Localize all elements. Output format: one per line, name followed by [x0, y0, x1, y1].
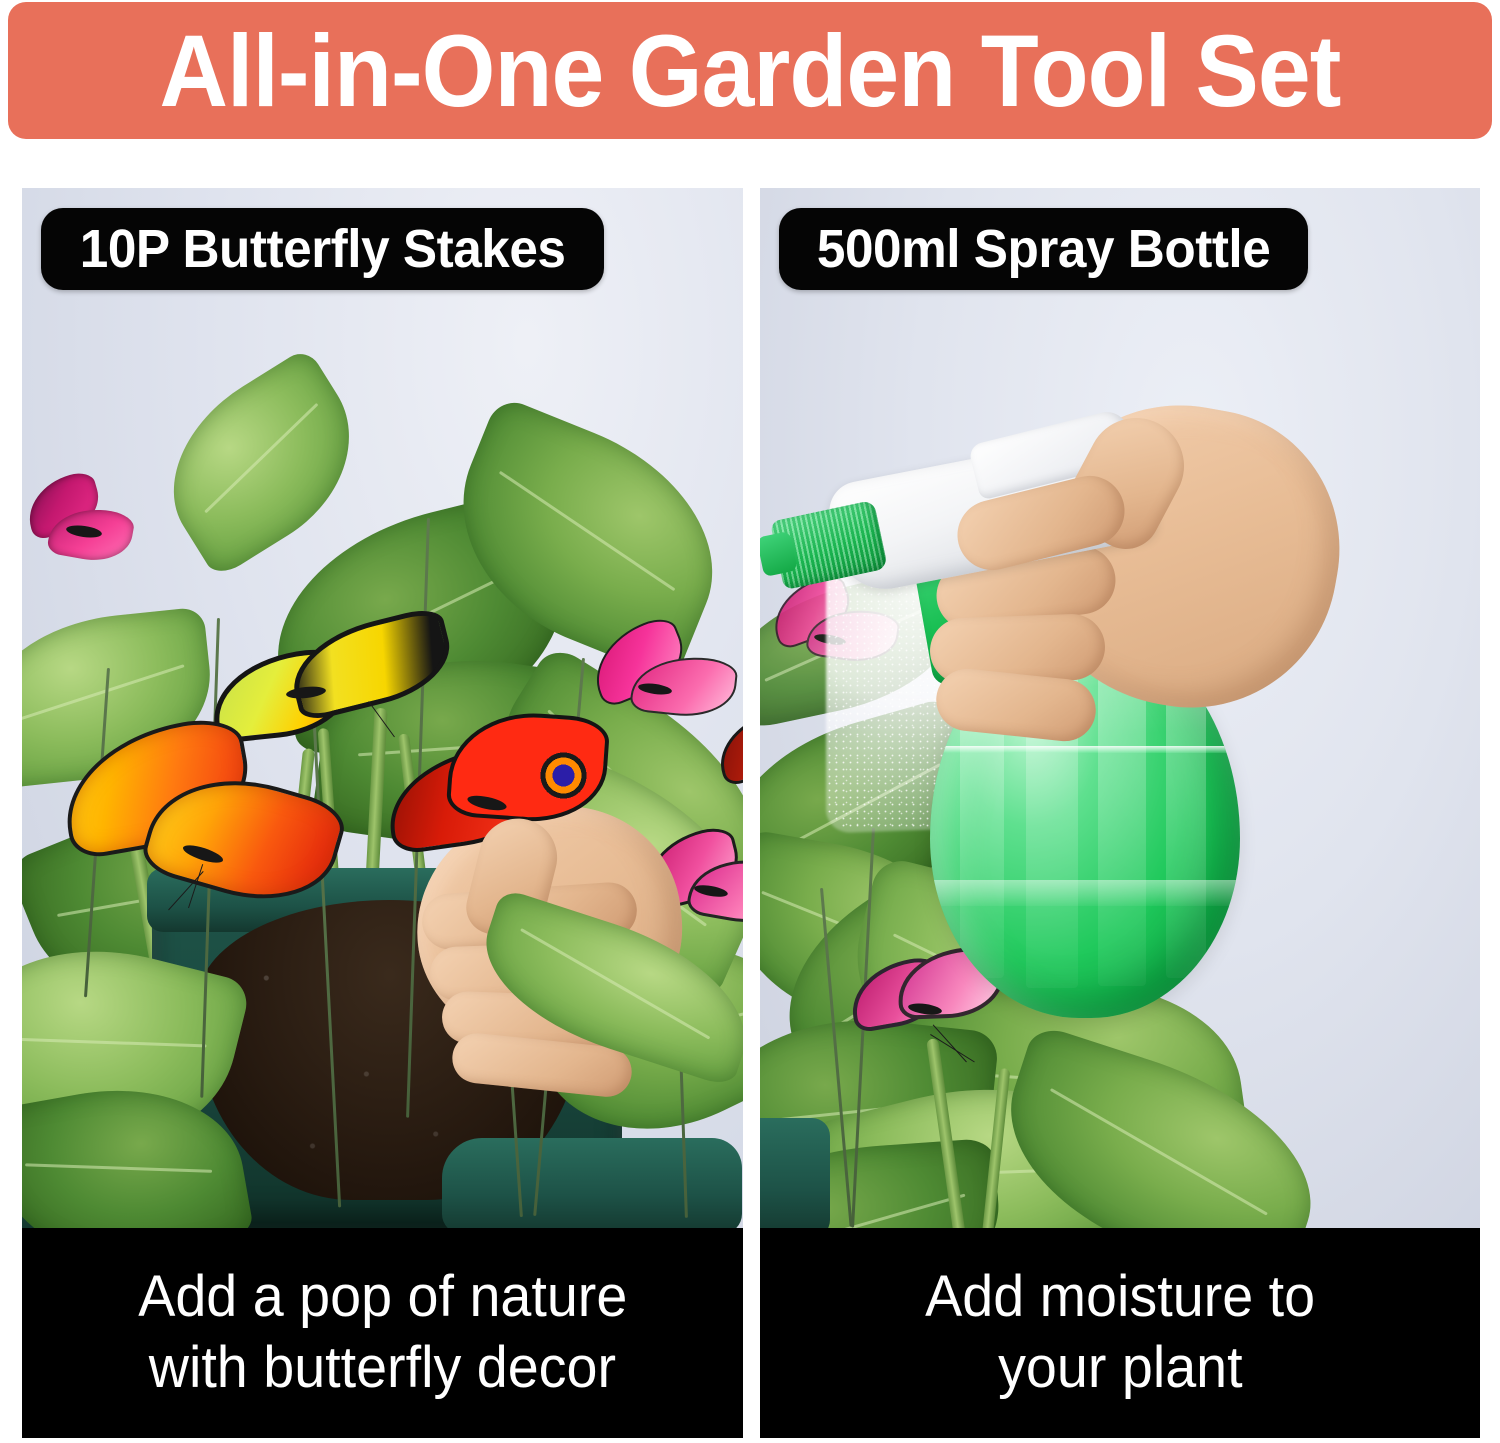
butterfly-stake-pink-left — [22, 478, 152, 588]
bottle-highlight-band — [930, 880, 1240, 906]
butterfly-stake-orange — [62, 728, 342, 928]
caption-line-2: your plant — [998, 1333, 1243, 1404]
feature-panel-group: 10P Butterfly Stakes Add a pop of nature… — [22, 188, 1480, 1438]
photo-butterfly-stakes — [22, 188, 743, 1228]
caption-line-2: with butterfly decor — [149, 1333, 616, 1404]
caption-line-1: Add a pop of nature — [138, 1262, 627, 1333]
panel-spray-bottle: 500ml Spray Bottle Add moisture to your … — [760, 188, 1481, 1438]
butterfly-antenna — [932, 1025, 966, 1063]
photo-spray-bottle — [760, 188, 1481, 1228]
badge-label: 10P Butterfly Stakes — [80, 222, 566, 276]
butterfly-wing — [445, 708, 610, 827]
badge-label: 500ml Spray Bottle — [816, 222, 1269, 276]
panel-butterfly-stakes: 10P Butterfly Stakes Add a pop of nature… — [22, 188, 743, 1438]
caption-butterfly-stakes: Add a pop of nature with butterfly decor — [22, 1228, 743, 1438]
badge-spray-bottle: 500ml Spray Bottle — [779, 208, 1308, 290]
caption-spray-bottle: Add moisture to your plant — [760, 1228, 1481, 1438]
pot-rim — [760, 1118, 830, 1228]
badge-butterfly-stakes: 10P Butterfly Stakes — [41, 208, 604, 290]
page-title: All-in-One Garden Tool Set — [160, 20, 1341, 122]
butterfly-stake-pink-top — [590, 628, 740, 738]
pot-rim-secondary — [442, 1138, 742, 1228]
header-banner: All-in-One Garden Tool Set — [8, 2, 1492, 139]
caption-line-1: Add moisture to — [925, 1262, 1315, 1333]
bottle-facet — [1098, 676, 1146, 986]
bottle-facet — [1166, 698, 1206, 978]
